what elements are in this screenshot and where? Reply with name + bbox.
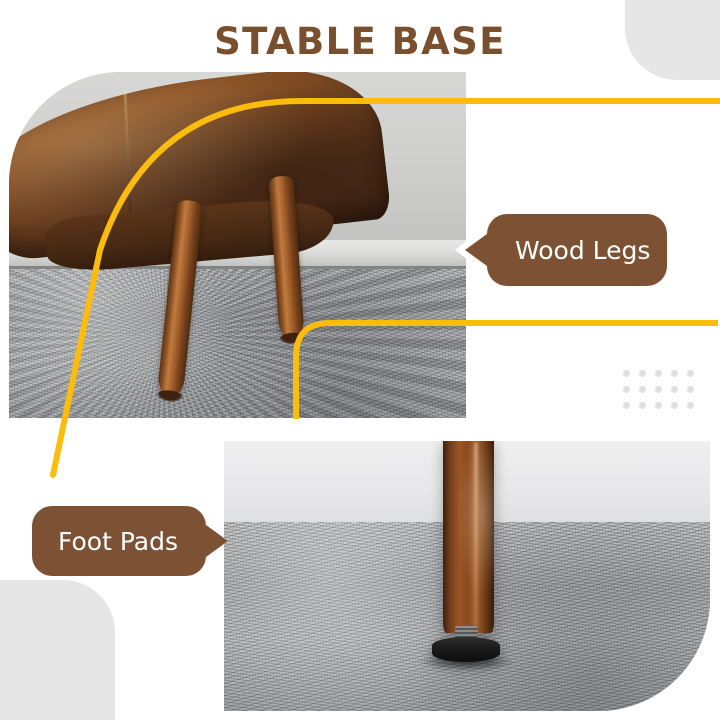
- wood-leg-closeup: [443, 441, 494, 633]
- grid-dot: [623, 402, 630, 409]
- photo-scene-bottom: [224, 441, 710, 711]
- foot-pad-disc: [432, 637, 500, 663]
- infographic-canvas: STABLE BASE Wood: [0, 0, 720, 720]
- grid-dot: [671, 402, 678, 409]
- grid-dot: [655, 370, 662, 377]
- photo-scene-top: [9, 72, 466, 418]
- grid-dot: [639, 370, 646, 377]
- grid-dot: [671, 370, 678, 377]
- product-photo-legs: [9, 72, 466, 418]
- callout-tail-icon: [465, 234, 487, 266]
- grid-dot: [671, 386, 678, 393]
- callout-foot-pads-label: Foot Pads: [58, 527, 178, 556]
- grid-dot: [687, 402, 694, 409]
- dot-grid-decoration: [623, 370, 703, 418]
- callout-tail-icon: [206, 525, 228, 557]
- callout-wood-legs-label: Wood Legs: [515, 236, 650, 265]
- grid-dot: [639, 402, 646, 409]
- carpet-floor: [9, 269, 466, 418]
- grid-dot: [687, 386, 694, 393]
- page-title: STABLE BASE: [0, 20, 720, 63]
- grid-dot: [623, 386, 630, 393]
- grid-dot: [639, 386, 646, 393]
- grid-dot: [687, 370, 694, 377]
- product-photo-foot-pad: [224, 441, 710, 711]
- callout-wood-legs[interactable]: Wood Legs: [487, 214, 667, 286]
- corner-decoration-bottom-left: [0, 580, 115, 720]
- grid-dot: [623, 370, 630, 377]
- callout-foot-pads[interactable]: Foot Pads: [32, 506, 206, 576]
- grid-dot: [655, 402, 662, 409]
- grid-dot: [655, 386, 662, 393]
